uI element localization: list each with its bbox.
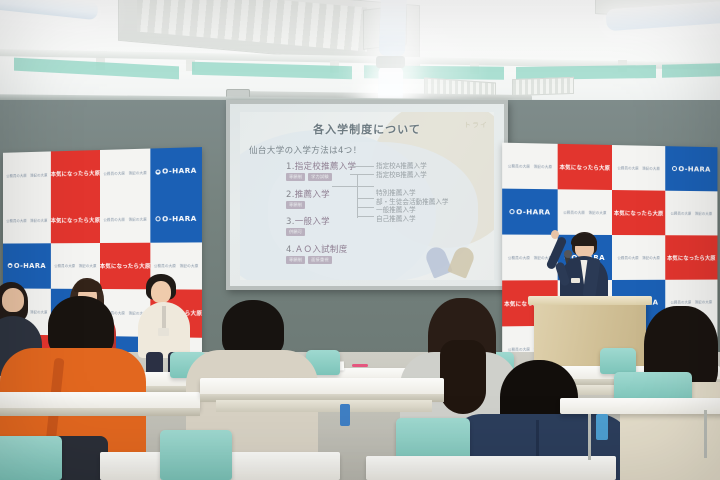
ceiling-mint-panel bbox=[662, 63, 720, 78]
desk-leg bbox=[588, 414, 591, 460]
slide-item-label: 推薦入学 bbox=[295, 190, 330, 200]
ohara-ring-icon bbox=[509, 209, 514, 214]
slide-item-label: 一般入学 bbox=[295, 217, 330, 227]
hair-over-shoulder bbox=[440, 340, 486, 414]
banner-tile-red: 本気になったら大原 bbox=[51, 196, 100, 243]
slide-branch-item: 指定校B推薦入学 bbox=[376, 171, 486, 180]
banner-tile-white: 公務員の大原 簿記の大原 bbox=[612, 235, 665, 280]
banner-tile-red: 本気になったら大原 bbox=[612, 190, 665, 235]
desk-front-right bbox=[366, 456, 616, 480]
slide-tag: 専願制 bbox=[286, 173, 305, 181]
desk-edge bbox=[0, 408, 200, 416]
slide-right-column: 指定校A推薦入学 指定校B推薦入学 特別推薦入学 部・生徒会活動推薦入学 一般推… bbox=[376, 162, 486, 224]
projection-screen: 各入学制度について トライ 仙台大学の入学方法は4つ！ 1.指定校推薦入学 専願… bbox=[226, 100, 508, 290]
classroom-presentation-photo: 各入学制度について トライ 仙台大学の入学方法は4つ！ 1.指定校推薦入学 専願… bbox=[0, 0, 720, 480]
slide-connector bbox=[332, 186, 374, 187]
ohara-ring-icon bbox=[155, 216, 160, 221]
banner-tile-logo: O-HARA bbox=[150, 147, 202, 195]
banner-tile-white: 公務員の大原 簿記の大原 bbox=[3, 151, 51, 198]
slide-connector bbox=[350, 174, 374, 175]
banner-tile-white: 公務員の大原 簿記の大原 bbox=[3, 197, 51, 243]
slide-title: 各入学制度について bbox=[240, 121, 494, 137]
banner-tile-logo: O-HARA bbox=[502, 189, 557, 235]
desk-hook bbox=[596, 414, 608, 440]
presenter-hand bbox=[551, 230, 559, 239]
slide-tag: 専願制 bbox=[286, 256, 305, 264]
light-connector bbox=[376, 56, 405, 68]
banner-tile-logo: O-HARA bbox=[665, 146, 717, 191]
banner-tile-red: 本気になったら大原 bbox=[51, 150, 100, 197]
banner-tile-red: 本気になったら大原 bbox=[558, 144, 612, 190]
fluorescent-light bbox=[379, 0, 407, 56]
ceiling-mint-panel bbox=[192, 62, 352, 79]
slide-tag: 面接重視 bbox=[308, 256, 332, 264]
slide-item-label: 指定校推薦入学 bbox=[295, 162, 357, 172]
desk-leg bbox=[704, 410, 707, 458]
slide-connector bbox=[358, 198, 374, 199]
head bbox=[2, 288, 24, 312]
presentation-slide: 各入学制度について トライ 仙台大学の入学方法は4つ！ 1.指定校推薦入学 専願… bbox=[240, 112, 494, 280]
screen-surface: 各入学制度について トライ 仙台大学の入学方法は4つ！ 1.指定校推薦入学 専願… bbox=[230, 104, 504, 286]
banner-tile-white: 公務員の大原 簿記の大原 bbox=[665, 191, 717, 236]
slide-corner-mark: トライ bbox=[464, 120, 488, 130]
ac-louver bbox=[137, 0, 367, 52]
slide-item-label: ＡＯ入試制度 bbox=[295, 245, 348, 255]
ohara-ring-icon bbox=[672, 166, 677, 171]
banner-tile-logo: O-HARA bbox=[150, 195, 202, 243]
banner-tile-white: 公務員の大原 簿記の大原 bbox=[558, 189, 612, 235]
desk-hook bbox=[340, 404, 350, 426]
chair bbox=[160, 430, 232, 480]
slide-subtitle: 仙台大学の入学方法は4つ！ bbox=[249, 144, 362, 156]
chair bbox=[600, 348, 636, 374]
slide-connector bbox=[358, 216, 374, 217]
slide-item-number: 2. bbox=[286, 190, 295, 200]
slide-tag: 併願可 bbox=[286, 228, 305, 236]
slide-branch-item: 指定校A推薦入学 bbox=[376, 162, 486, 171]
slide-branch-item: 自己推薦入学 bbox=[376, 215, 486, 224]
banner-tile-white: 公務員の大原 簿記の大原 bbox=[502, 143, 557, 190]
banner-tile-white: 公務員の大原 簿記の大原 bbox=[100, 149, 150, 197]
slide-connector bbox=[358, 207, 374, 208]
banner-tile-white: 公務員の大原 簿記の大原 bbox=[100, 196, 150, 243]
lanyard bbox=[162, 306, 166, 330]
leaf-left bbox=[423, 244, 452, 278]
slide-connector-vertical bbox=[357, 174, 358, 218]
desk-shelf bbox=[216, 400, 432, 412]
banner-tile-white: 公務員の大原 簿記の大原 bbox=[612, 145, 665, 191]
slide-item-number: 1. bbox=[286, 162, 295, 172]
slide-connector bbox=[350, 166, 374, 167]
fringe bbox=[74, 280, 102, 292]
slide-item-number: 3. bbox=[286, 217, 295, 227]
podium-top-surface bbox=[528, 296, 652, 305]
presenter-name-badge bbox=[571, 278, 580, 283]
banner-tile-red: 本気になったら大原 bbox=[100, 243, 150, 290]
slide-item-tags: 併願可 bbox=[286, 228, 486, 236]
id-card bbox=[158, 328, 169, 336]
pink-pen bbox=[352, 364, 368, 367]
slide-tag: 学力試験 bbox=[308, 173, 332, 181]
slide-branch-item: 特別推薦入学 bbox=[376, 189, 486, 198]
slide-leaf-logo bbox=[428, 242, 472, 276]
microphone-head bbox=[564, 250, 572, 258]
slide-tag: 専願制 bbox=[286, 201, 305, 209]
slide-item-number: 4. bbox=[286, 245, 295, 255]
ohara-ring-icon bbox=[155, 169, 160, 174]
presenter-fringe bbox=[571, 234, 597, 246]
banner-tile-red: 本気になったら大原 bbox=[665, 235, 717, 280]
slide-branch-item: 一般推薦入学 bbox=[376, 206, 486, 215]
ohara-ring-icon bbox=[8, 264, 13, 269]
desk-right-back bbox=[560, 398, 720, 414]
head bbox=[151, 281, 171, 303]
ceiling-diffuser bbox=[512, 77, 574, 96]
chair bbox=[0, 436, 62, 480]
